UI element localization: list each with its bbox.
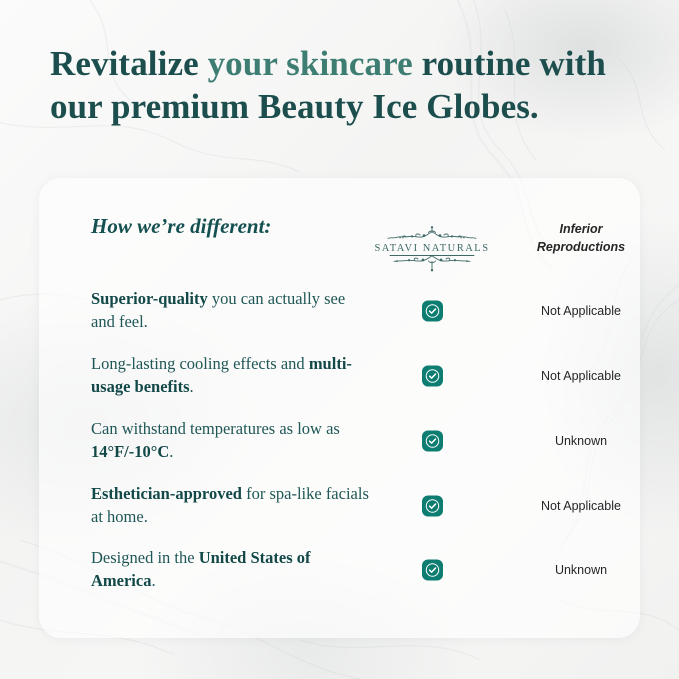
page-headline: Revitalize your skincare routine with ou… — [50, 42, 650, 129]
feature-emphasis: Superior-quality — [91, 289, 208, 308]
check-circle-glyph — [425, 499, 440, 514]
competitor-status: Unknown — [511, 563, 651, 577]
brand-check-cell — [361, 560, 503, 581]
check-icon — [422, 431, 443, 452]
check-icon — [422, 560, 443, 581]
competitor-status: Unknown — [511, 434, 651, 448]
brand-logo-text: SATAVI NATURALS — [361, 243, 503, 254]
headline-segment-3: routine with — [413, 44, 606, 83]
check-circle-glyph — [425, 434, 440, 449]
competitor-column-header-line2: Reproductions — [537, 240, 625, 254]
headline-accent-segment: your skincare — [208, 44, 413, 83]
logo-ornament-bottom-icon — [376, 254, 488, 272]
table-row: Superior-quality you can actually see an… — [39, 279, 640, 343]
feature-emphasis: Esthetician-approved — [91, 484, 242, 503]
feature-plain-tail: . — [151, 571, 155, 590]
headline-segment-1: Revitalize — [50, 44, 208, 83]
table-row: Long-lasting cooling effects and multi-u… — [39, 344, 640, 408]
brand-logo: SATAVI NATURALS — [361, 226, 503, 272]
table-row: Designed in the United States of America… — [39, 538, 640, 602]
feature-plain: Long-lasting cooling effects and — [91, 354, 309, 373]
brand-check-cell — [361, 431, 503, 452]
competitor-status: Not Applicable — [511, 369, 651, 383]
brand-check-cell — [361, 496, 503, 517]
competitor-column-header-line1: Inferior — [559, 222, 602, 236]
feature-emphasis: 14°F/-10°C — [91, 442, 169, 461]
feature-description: Can withstand temperatures as low as 14°… — [91, 418, 371, 464]
table-row: Can withstand temperatures as low as 14°… — [39, 409, 640, 473]
comparison-card: How we’re different: — [39, 178, 640, 638]
check-icon — [422, 301, 443, 322]
feature-description: Designed in the United States of America… — [91, 547, 371, 593]
feature-description: Long-lasting cooling effects and multi-u… — [91, 353, 371, 399]
feature-plain: Designed in the — [91, 548, 199, 567]
headline-line-2: our premium Beauty Ice Globes. — [50, 87, 539, 126]
logo-ornament-top-icon — [376, 226, 488, 243]
table-row: Esthetician-approved for spa-like facial… — [39, 474, 640, 538]
brand-check-cell — [361, 366, 503, 387]
competitor-status: Not Applicable — [511, 499, 651, 513]
feature-column-header: How we’re different: — [91, 212, 341, 240]
check-circle-glyph — [425, 563, 440, 578]
feature-description: Superior-quality you can actually see an… — [91, 288, 371, 334]
check-circle-glyph — [425, 304, 440, 319]
comparison-table-header: How we’re different: — [39, 204, 640, 276]
check-icon — [422, 496, 443, 517]
competitor-status: Not Applicable — [511, 304, 651, 318]
check-icon — [422, 366, 443, 387]
check-circle-glyph — [425, 369, 440, 384]
feature-plain-tail: . — [190, 377, 194, 396]
feature-plain-tail: . — [169, 442, 173, 461]
brand-check-cell — [361, 301, 503, 322]
competitor-column-header: Inferior Reproductions — [511, 220, 651, 256]
feature-description: Esthetician-approved for spa-like facial… — [91, 483, 371, 529]
feature-plain: Can withstand temperatures as low as — [91, 419, 340, 438]
